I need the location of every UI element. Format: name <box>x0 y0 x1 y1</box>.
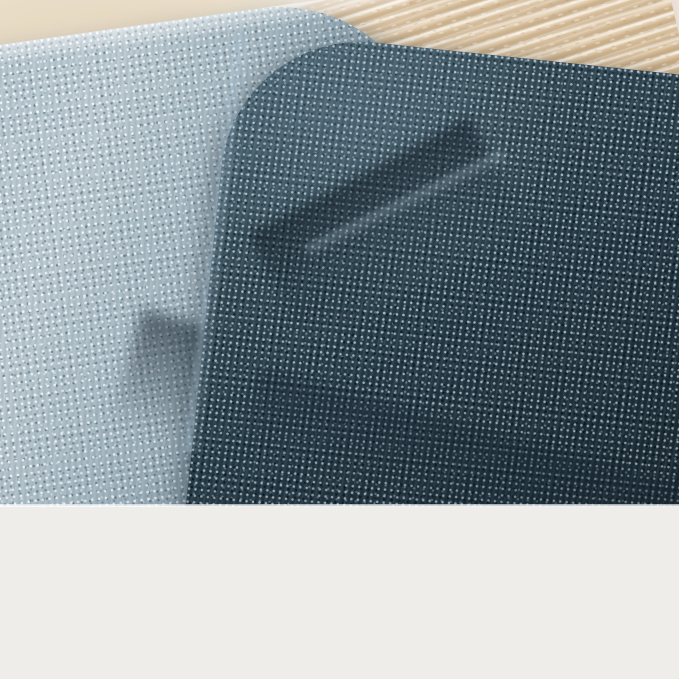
caption-panel: If your pet knead or scratch the pillow … <box>0 507 679 679</box>
product-photo <box>0 0 679 507</box>
product-feature-card: If your pet knead or scratch the pillow … <box>0 0 679 679</box>
